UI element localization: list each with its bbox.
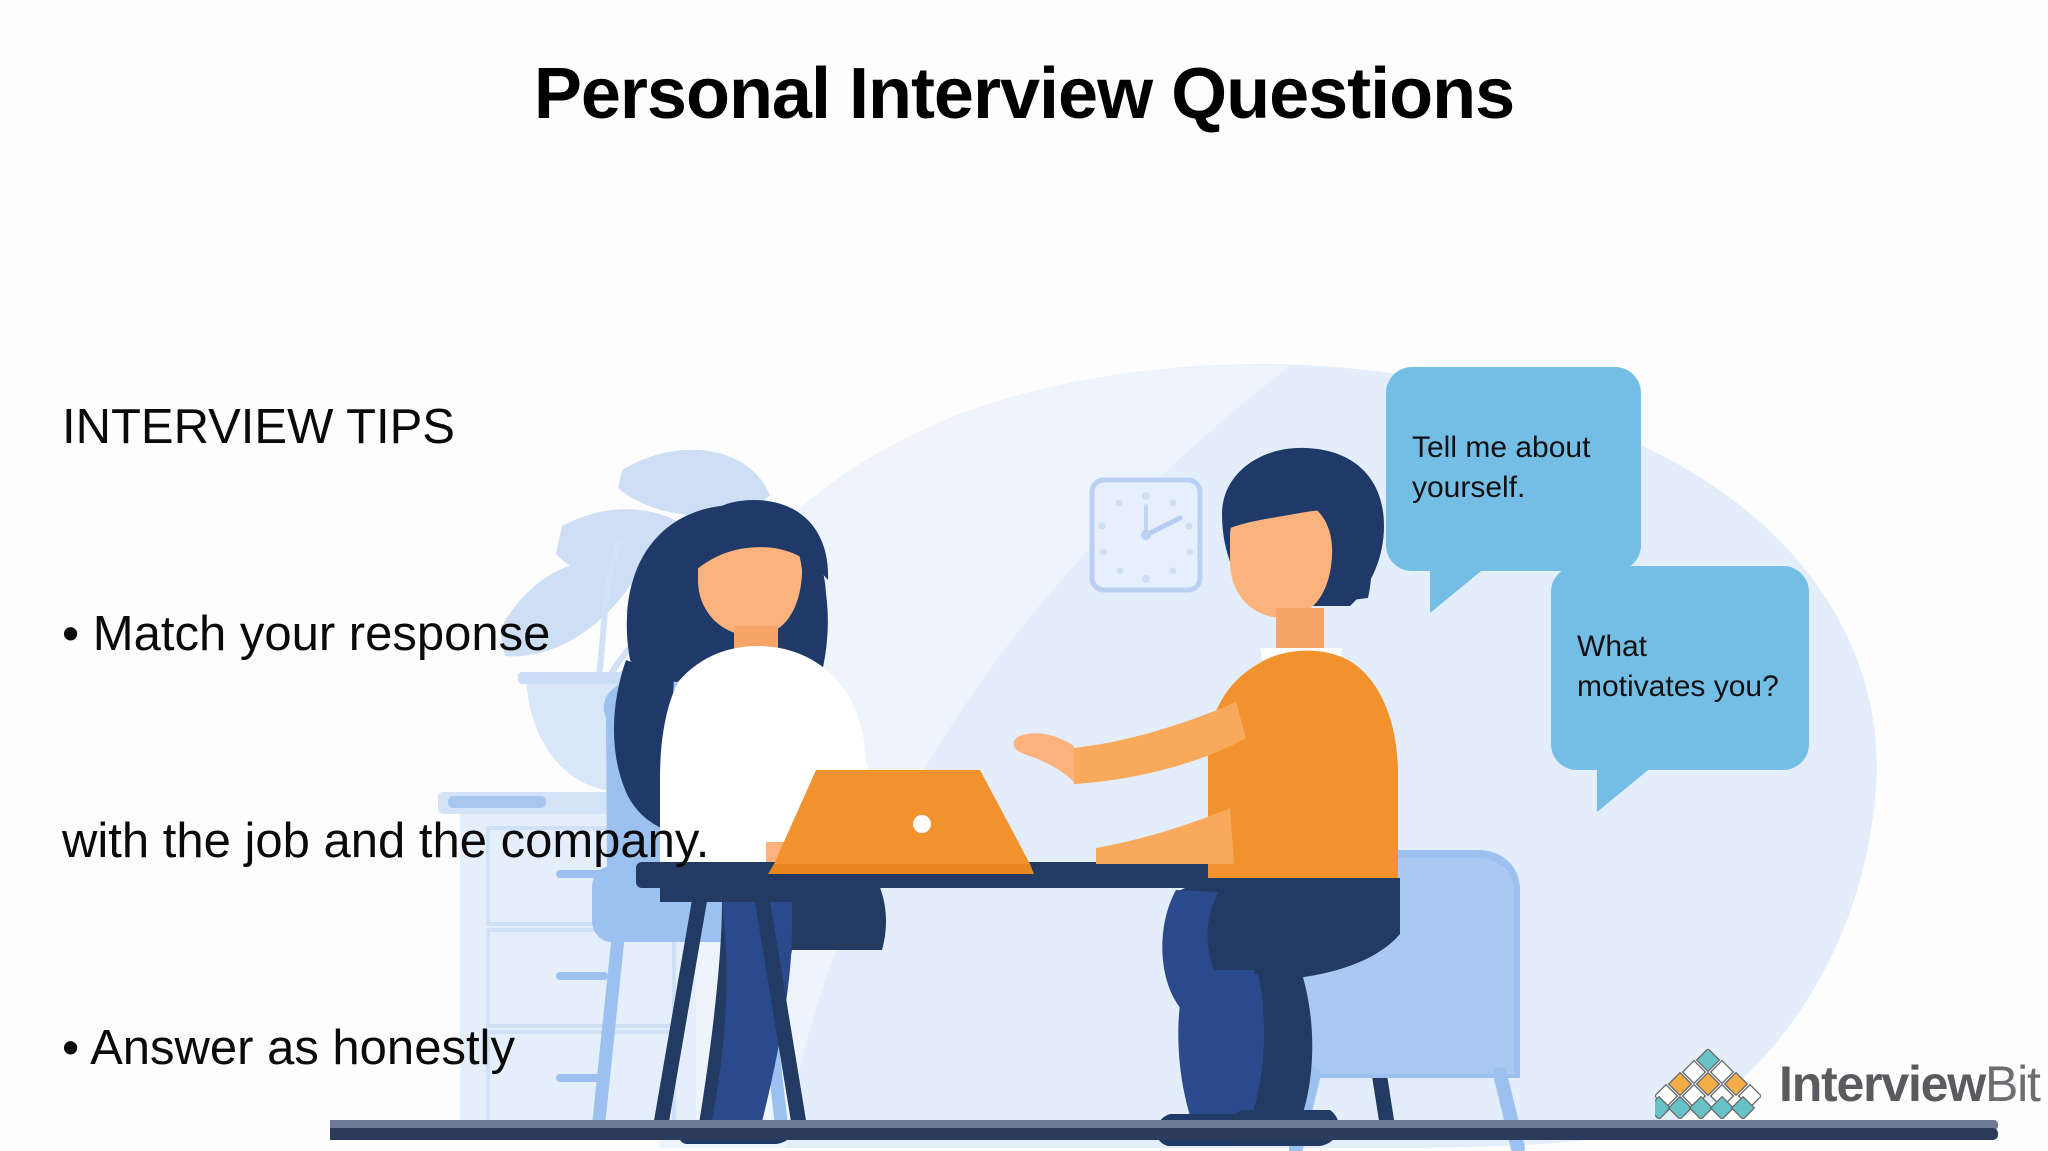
slide-canvas: Personal Interview Questions INTERVIEW T… — [0, 0, 2048, 1151]
logo-word-bit: Bit — [1985, 1056, 2040, 1112]
speech-bubble-tail-icon — [1430, 567, 1486, 613]
interview-tips-block: INTERVIEW TIPS • Match your response wit… — [62, 255, 942, 1151]
speech-bubble-tail-icon — [1597, 766, 1653, 812]
logo-word-interview: Interview — [1779, 1056, 1985, 1112]
page-title: Personal Interview Questions — [0, 55, 2048, 134]
tips-heading: INTERVIEW TIPS — [62, 393, 942, 462]
wall-clock-icon — [1092, 480, 1200, 590]
speech-bubble-text: Tell me about yourself. — [1412, 431, 1590, 504]
speech-bubble-text: What motivates you? — [1577, 630, 1779, 703]
speech-bubble-what-motivates-you: What motivates you? — [1551, 566, 1809, 770]
interviewbit-wordmark: InterviewBit — [1779, 1059, 2040, 1109]
interviewbit-logo: InterviewBit — [1655, 1043, 2027, 1125]
speech-bubble-tell-me-about-yourself: Tell me about yourself. — [1386, 367, 1641, 571]
tip-line: • Answer as honestly — [62, 1014, 942, 1083]
tip-line: • Match your response — [62, 600, 942, 669]
tip-line: with the job and the company. — [62, 807, 942, 876]
interviewbit-diamond-pyramid-logo-icon — [1655, 1049, 1761, 1119]
